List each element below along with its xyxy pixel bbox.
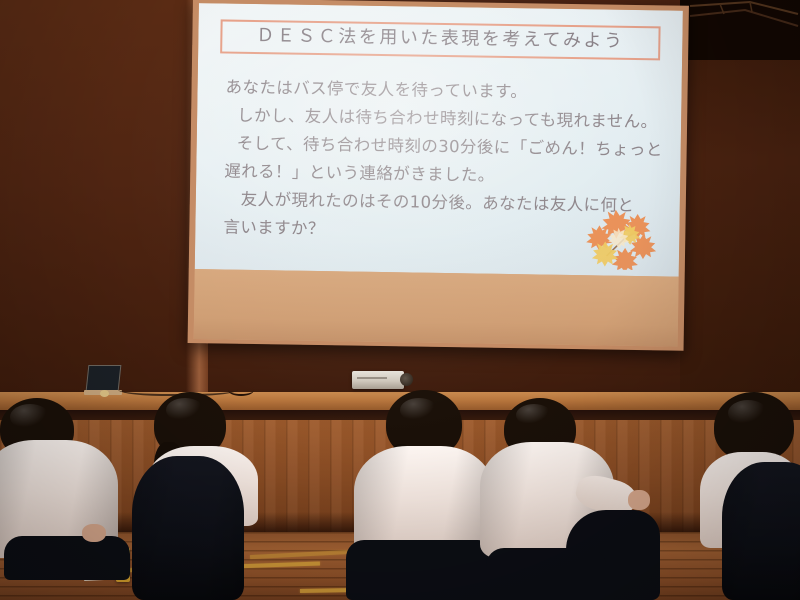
laptop-object <box>100 390 109 397</box>
projection-screen: ＤＥＳＣ法を用いた表現を考えてみよう あなたはバス停で友人を待っています。 しか… <box>188 0 689 351</box>
student-4-hand <box>628 490 650 510</box>
student-2-vest <box>132 456 244 600</box>
laptop <box>84 365 120 395</box>
slide-title-box: ＤＥＳＣ法を用いた表現を考えてみよう <box>220 19 660 60</box>
screen-frame: ＤＥＳＣ法を用いた表現を考えてみよう あなたはバス停で友人を待っています。 しか… <box>188 0 689 351</box>
student-5-shading <box>722 462 800 600</box>
projector <box>352 371 404 389</box>
autumn-leaves-icon <box>585 203 664 270</box>
left-wall-curtain <box>0 0 206 400</box>
student-1-legs <box>4 536 130 580</box>
projector-lens <box>400 373 413 386</box>
student-3-hair-highlight <box>400 398 438 422</box>
student-4 <box>480 398 660 600</box>
student-5-hair-highlight <box>728 400 768 426</box>
screen-surface: ＤＥＳＣ法を用いた表現を考えてみよう あなたはバス停で友人を待っています。 しか… <box>194 3 683 347</box>
right-wall <box>680 0 800 400</box>
gymnasium-scene: ＤＥＳＣ法を用いた表現を考えてみよう あなたはバス停で友人を待っています。 しか… <box>0 0 800 600</box>
student-1-hand <box>82 524 106 542</box>
student-4-legs <box>486 548 606 600</box>
student-3-legs <box>346 540 496 600</box>
student-2-shading <box>132 456 244 600</box>
student-5-vest <box>722 462 800 600</box>
projector-vent <box>357 377 387 379</box>
slide-lit-area: ＤＥＳＣ法を用いた表現を考えてみよう あなたはバス停で友人を待っています。 しか… <box>195 3 683 277</box>
student-1-hair-highlight <box>10 404 50 430</box>
student-1 <box>0 398 142 600</box>
student-5 <box>688 392 800 600</box>
ceiling-truss-icon <box>690 0 800 40</box>
student-4-hair-highlight <box>516 404 552 426</box>
laptop-screen <box>86 365 122 391</box>
screen-unlit-area <box>194 269 679 347</box>
student-2 <box>126 392 276 600</box>
student-2-hair-highlight <box>166 398 204 422</box>
slide-title: ＤＥＳＣ法を用いた表現を考えてみよう <box>228 26 652 52</box>
